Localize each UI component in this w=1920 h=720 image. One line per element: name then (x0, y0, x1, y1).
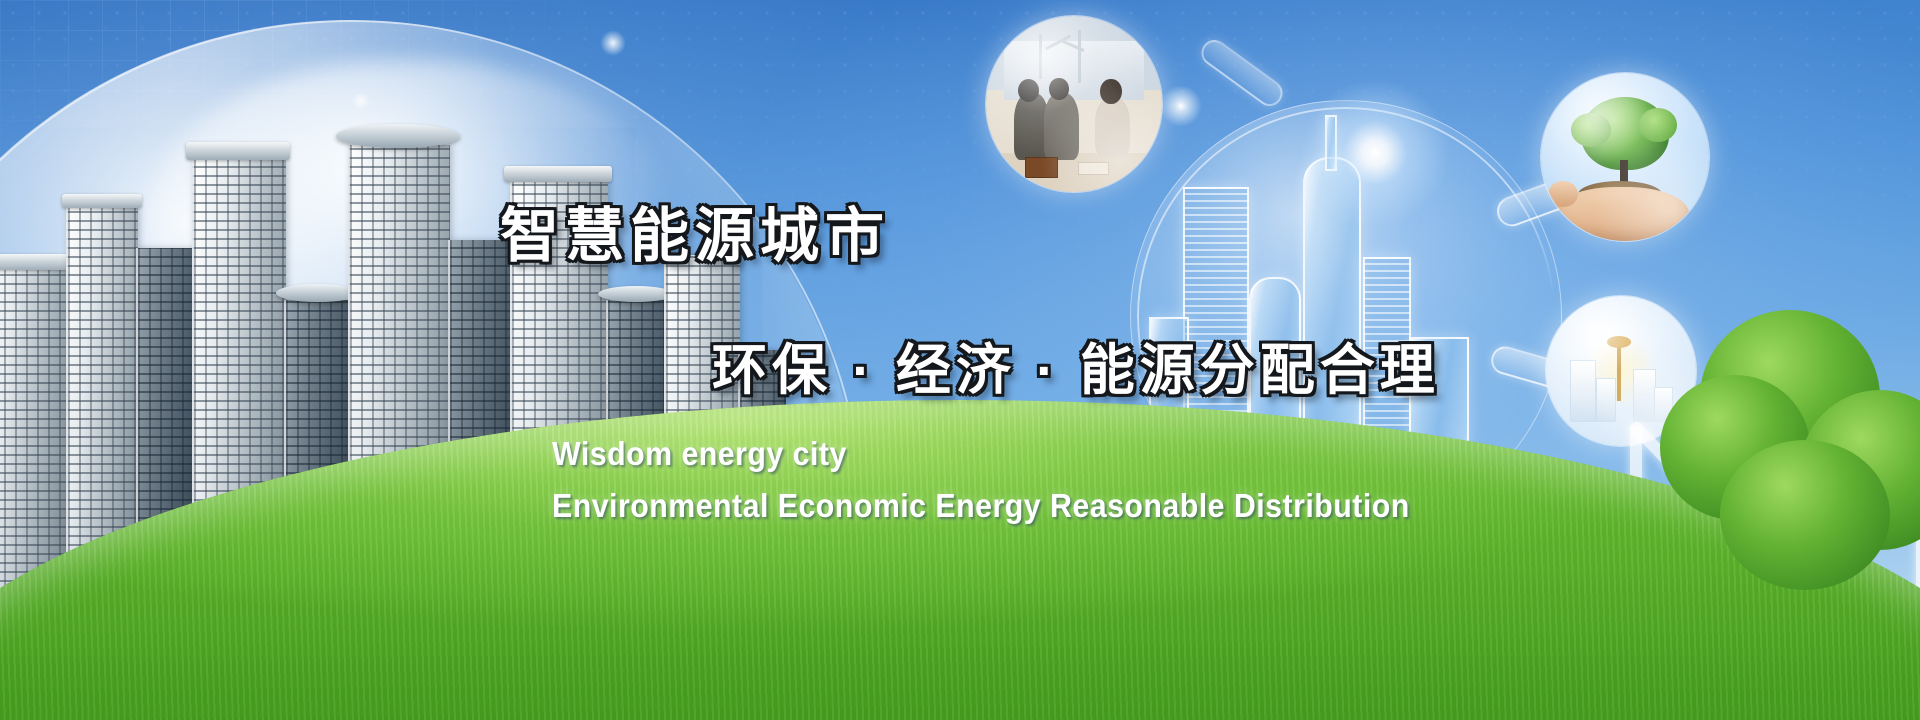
banner-text: 智慧能源城市 环保 · 经济 · 能源分配合理 Wisdom energy ci… (0, 0, 1920, 720)
tagline-english-secondary: Environmental Economic Energy Reasonable… (552, 487, 1410, 525)
smart-energy-city-banner: 智慧能源城市 环保 · 经济 · 能源分配合理 Wisdom energy ci… (0, 0, 1920, 720)
subheadline-chinese: 环保 · 经济 · 能源分配合理 (712, 325, 1440, 405)
headline-chinese: 智慧能源城市 (500, 188, 890, 273)
tagline-english-primary: Wisdom energy city (552, 435, 847, 473)
